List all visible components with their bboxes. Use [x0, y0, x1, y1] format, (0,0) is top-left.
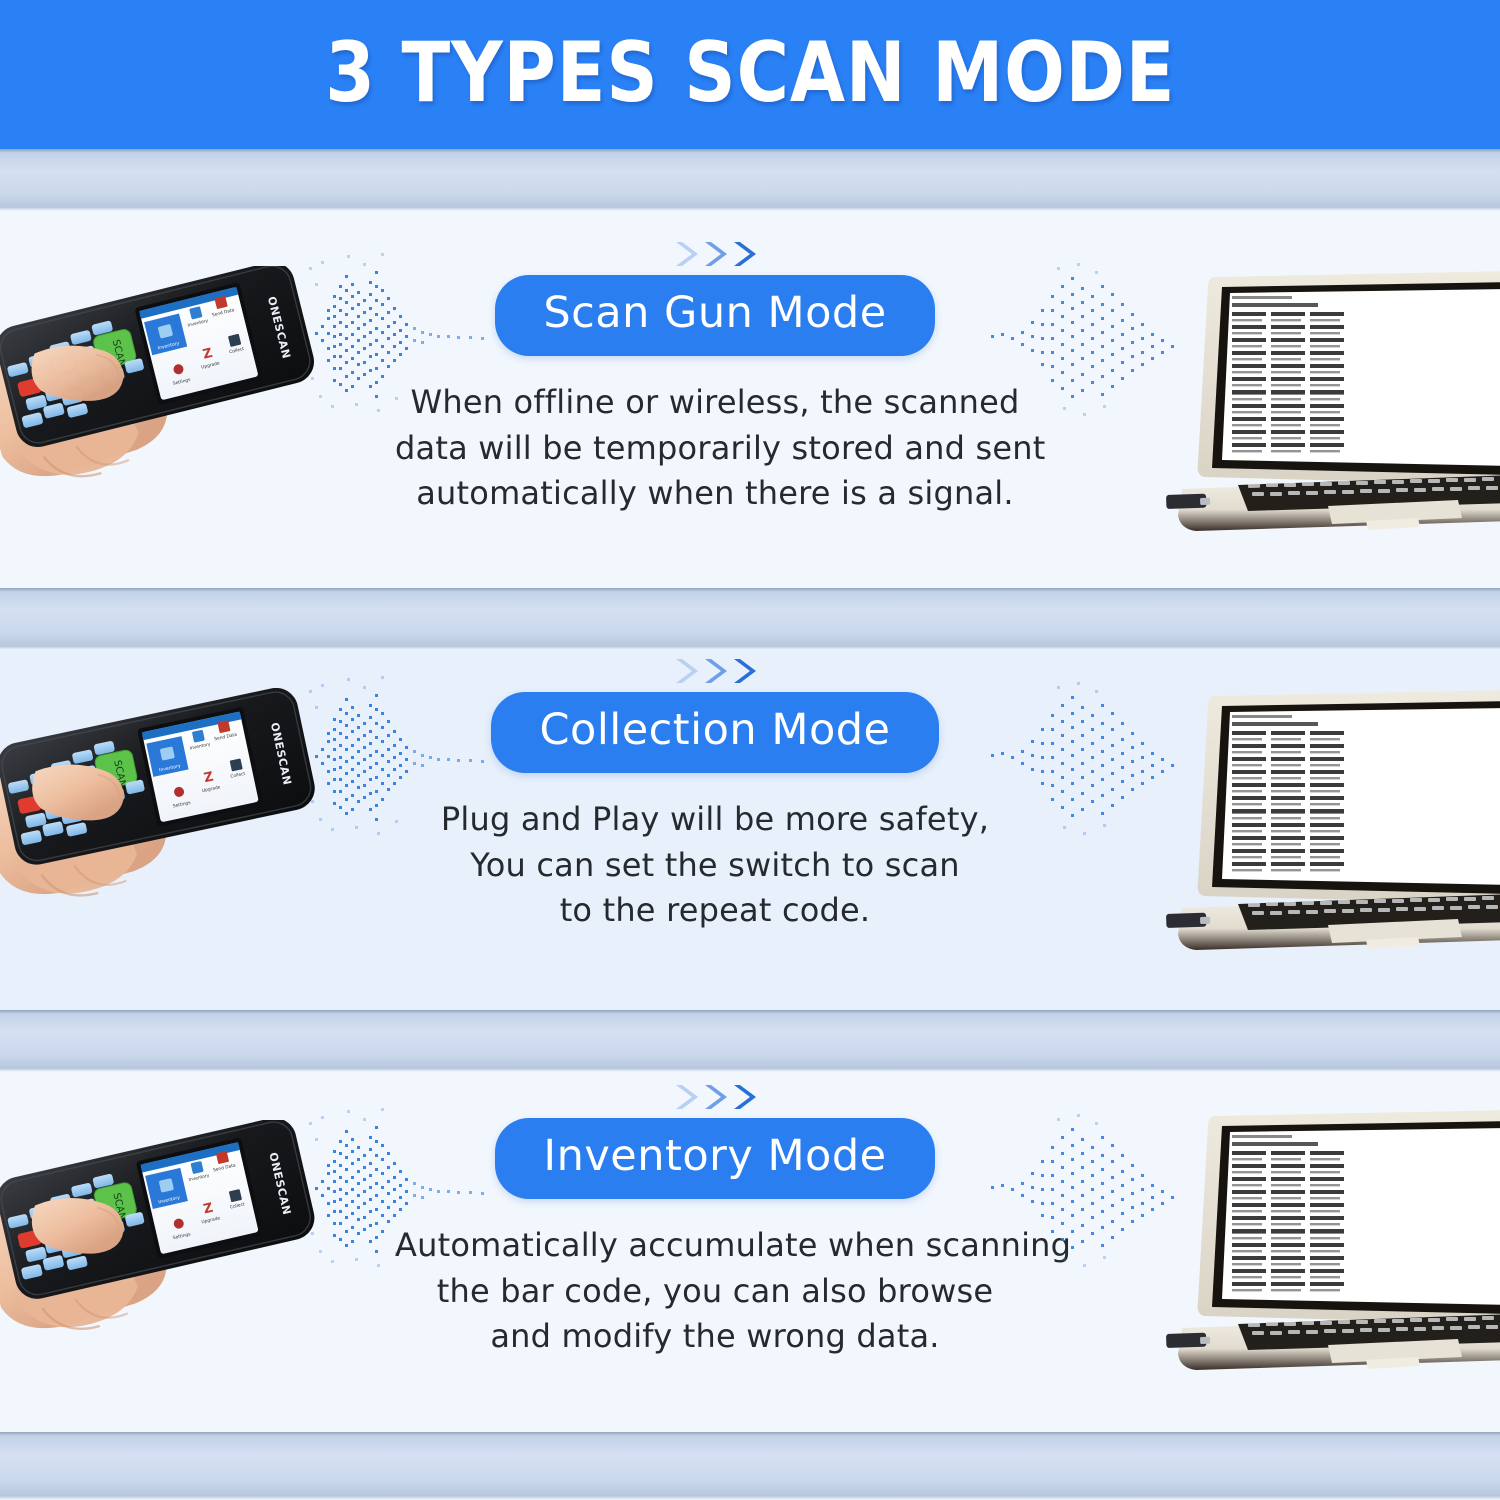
usb-receiver-dongle-3: [1166, 1333, 1210, 1348]
laptop-screen-3: [1222, 1128, 1500, 1305]
desc-line: Plug and Play will be more safety,: [395, 797, 1035, 842]
page-title: 3 TYPES SCAN MODE: [325, 31, 1175, 114]
chevron-group-2: [395, 650, 1035, 692]
divider-band-2: [0, 1010, 1500, 1072]
mode-block-2: Collection Mode Plug and Play will be mo…: [395, 650, 1035, 933]
desc-line: You can set the switch to scan: [395, 843, 1035, 888]
section-scan-gun-mode: Inventory Inventory Send Data Collect Z: [0, 211, 1500, 588]
laptop-screen-1: [1222, 289, 1500, 466]
chevron-right-icon-mid: [702, 656, 728, 686]
chevron-right-icon-dark: [731, 1082, 757, 1112]
usb-receiver-dongle-2: [1166, 913, 1210, 928]
mode-description-inventory: Automatically accumulate when scanning t…: [395, 1223, 1035, 1359]
scanner-device-3: Inventory Inventory Send Data Collect Z …: [0, 1120, 336, 1355]
mode-label-collection[interactable]: Collection Mode: [491, 692, 938, 773]
chevron-right-icon-mid: [702, 1082, 728, 1112]
chevron-right-icon-dark: [731, 239, 757, 269]
desc-line: automatically when there is a signal.: [395, 471, 1035, 516]
laptop-3: [1152, 1102, 1500, 1396]
mode-label-scan-gun[interactable]: Scan Gun Mode: [495, 275, 934, 356]
desc-line: to the repeat code.: [395, 888, 1035, 933]
usb-receiver-dongle-1: [1166, 494, 1210, 509]
section-inventory-mode: Inventory Inventory Send Data Collect Z …: [0, 1072, 1500, 1432]
chevron-right-icon-light: [673, 1082, 699, 1112]
mode-block-3: Inventory Mode Automatically accumulate …: [395, 1076, 1035, 1359]
divider-band-bottom: [0, 1432, 1500, 1500]
mode-label-inventory[interactable]: Inventory Mode: [495, 1118, 934, 1199]
scanner-device-2: Inventory Inventory Send Data Collect Z …: [0, 688, 336, 923]
laptop-1: [1152, 263, 1500, 557]
laptop-2: [1152, 682, 1500, 976]
desc-line: and modify the wrong data.: [395, 1314, 1035, 1359]
chevron-group-1: [395, 233, 1035, 275]
scanner-device-1: Inventory Inventory Send Data Collect Z: [0, 266, 336, 496]
desc-line: When offline or wireless, the scanned: [395, 380, 1035, 425]
divider-band-1: [0, 588, 1500, 650]
desc-line: the bar code, you can also browse: [395, 1269, 1035, 1314]
desc-line: data will be temporarily stored and sent: [395, 426, 1035, 471]
mode-description-collection: Plug and Play will be more safety, You c…: [395, 797, 1035, 933]
mode-block-1: Scan Gun Mode When offline or wireless, …: [395, 233, 1035, 516]
infographic-page: 3 TYPES SCAN MODE: [0, 0, 1500, 1500]
mode-description-scan-gun: When offline or wireless, the scanned da…: [395, 380, 1035, 516]
section-collection-mode: Inventory Inventory Send Data Collect Z …: [0, 650, 1500, 1010]
chevron-right-icon-light: [673, 656, 699, 686]
chevron-right-icon-light: [673, 239, 699, 269]
chevron-group-3: [395, 1076, 1035, 1118]
chevron-right-icon-mid: [702, 239, 728, 269]
laptop-screen-2: [1222, 708, 1500, 885]
header-banner: 3 TYPES SCAN MODE: [0, 0, 1500, 149]
chevron-right-icon-dark: [731, 656, 757, 686]
desc-line: Automatically accumulate when scanning: [395, 1223, 1035, 1268]
divider-band-top: [0, 149, 1500, 211]
